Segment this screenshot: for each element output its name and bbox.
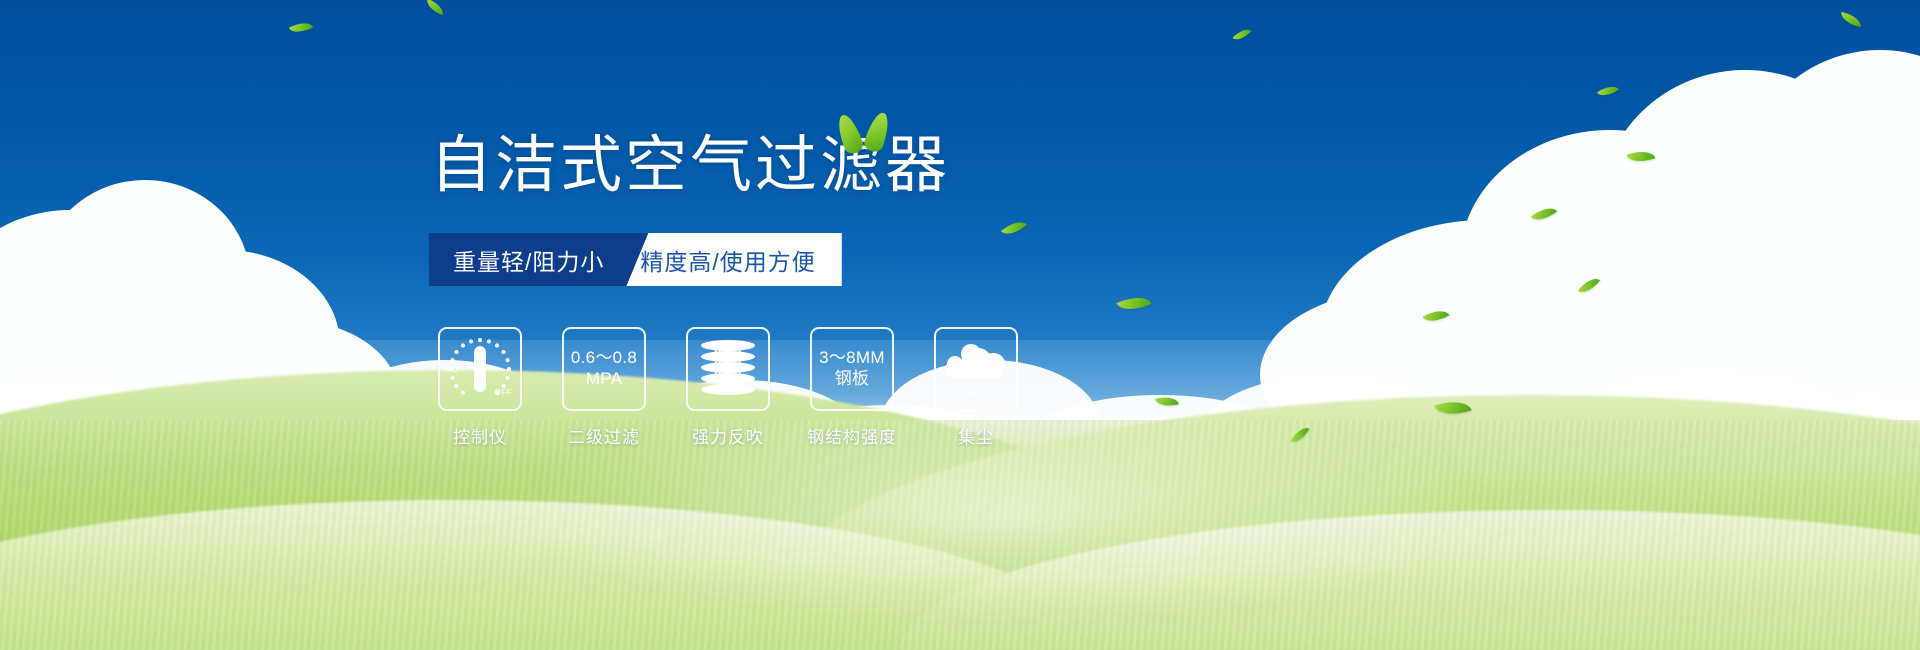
- filter-stack-icon: [686, 327, 770, 411]
- tab-lightweight-lowresistance[interactable]: 重量轻/阻力小: [429, 233, 648, 286]
- dial-on-label: NO: [445, 365, 458, 374]
- feature-item-strong-backblow[interactable]: 强力反吹: [686, 327, 770, 448]
- steel-thickness: 3～8MM: [819, 348, 885, 369]
- leaf-pair-icon: [838, 108, 898, 160]
- dial-graphic: NO OFF: [446, 335, 514, 403]
- pressure-unit: MPA: [586, 369, 622, 390]
- cloud-graphic: [945, 344, 1007, 384]
- filter-stack-graphic: [701, 340, 755, 398]
- feature-label: 集尘: [958, 423, 994, 448]
- tab-precision-easyuse[interactable]: 精度高/使用方便: [626, 233, 841, 286]
- dial-off-label: OFF: [495, 388, 513, 397]
- steel-plate-text-icon: 3～8MM 钢板: [810, 327, 894, 411]
- dial-needle: [474, 346, 486, 392]
- tab-label: 重量轻/阻力小: [453, 243, 604, 277]
- air-caption: Air: [968, 385, 984, 399]
- feature-label: 强力反吹: [692, 423, 764, 448]
- steel-material: 钢板: [835, 369, 870, 390]
- tagline-tabs: 重量轻/阻力小 精度高/使用方便: [429, 233, 842, 286]
- feature-item-two-stage-filtration[interactable]: 0.6～0.8 MPA 二级过滤: [562, 327, 646, 448]
- banner-content: 自洁式空气过滤器 重量轻/阻力小 精度高/使用方便: [0, 0, 1920, 650]
- feature-label: 控制仪: [453, 423, 507, 448]
- feature-item-control-instrument[interactable]: NO OFF 控制仪: [438, 327, 522, 448]
- feature-label: 钢结构强度: [807, 423, 897, 448]
- air-cloud-icon: Air: [934, 327, 1018, 411]
- pressure-range: 0.6～0.8: [571, 348, 637, 369]
- feature-label: 二级过滤: [568, 423, 640, 448]
- feature-item-steel-strength[interactable]: 3～8MM 钢板 钢结构强度: [810, 327, 894, 448]
- feature-item-dust-collection[interactable]: Air 集尘: [934, 327, 1018, 448]
- control-dial-icon: NO OFF: [438, 327, 522, 411]
- product-hero-banner: 自洁式空气过滤器 重量轻/阻力小 精度高/使用方便: [0, 0, 1920, 650]
- feature-icon-row: NO OFF 控制仪 0.6～0.8 MPA 二级过滤: [438, 327, 1018, 448]
- pressure-text-icon: 0.6～0.8 MPA: [562, 327, 646, 411]
- tab-label: 精度高/使用方便: [640, 243, 815, 277]
